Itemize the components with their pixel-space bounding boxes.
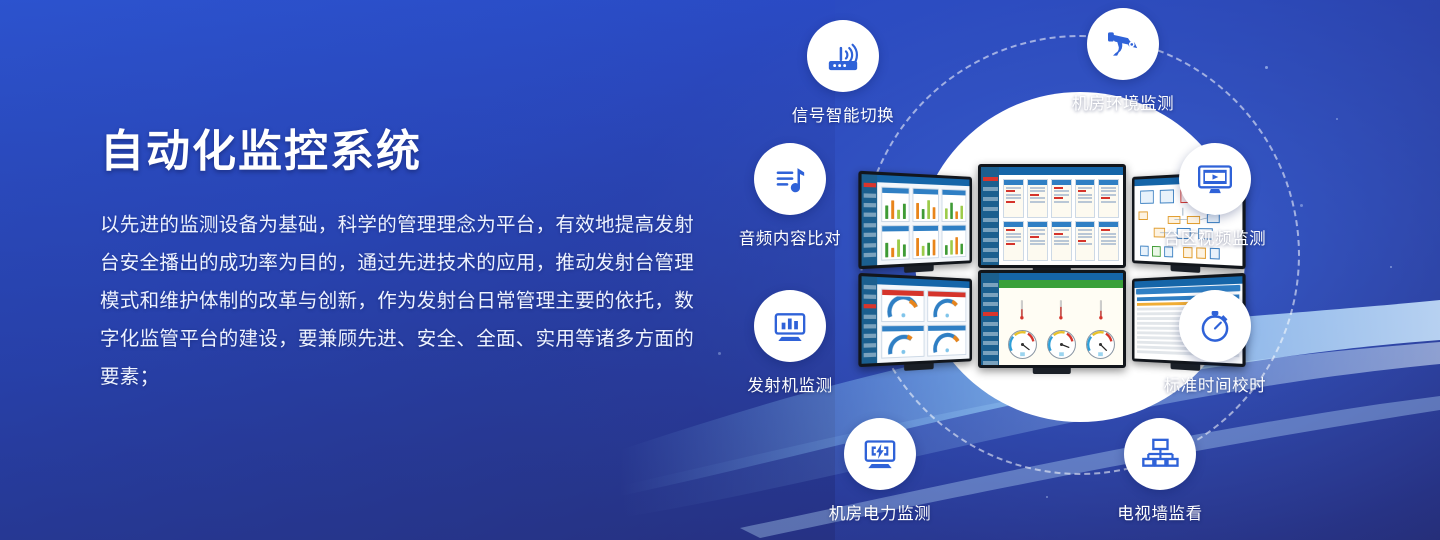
monitor-screen-dial-gauges [978,270,1126,368]
hero-description: 以先进的监测设备为基础，科学的管理理念为平台，有效地提高发射台安全播出的成功率为… [100,206,700,396]
feature-label: 信号智能切换 [768,102,918,126]
feature-label: 台区视频监测 [1140,225,1290,249]
hero-copy: 自动化监控系统 以先进的监测设备为基础，科学的管理理念为平台，有效地提高发射台安… [100,128,700,396]
feature-label: 标准时间校时 [1140,372,1290,396]
feature-item-signal-switch[interactable]: 信号智能切换 [768,20,918,126]
monitor-screen-arc-gauges [858,273,972,367]
hero-banner: 自动化监控系统 以先进的监测设备为基础，科学的管理理念为平台，有效地提高发射台安… [0,0,1440,540]
stopwatch-icon [1179,290,1251,362]
feature-label: 机房环境监测 [1048,90,1198,114]
monitor-power-icon [844,418,916,490]
feature-item-area-video[interactable]: 台区视频监测 [1140,143,1290,249]
feature-label: 音频内容比对 [715,225,865,249]
feature-label: 机房电力监测 [805,500,955,524]
feature-item-room-power[interactable]: 机房电力监测 [805,418,955,524]
monitor-video-icon [1179,143,1251,215]
sitemap-icon [1124,418,1196,490]
router-wifi-icon [807,20,879,92]
feature-label: 发射机监测 [715,372,865,396]
hero-graphic: 信号智能切换 机房环境监测 [700,0,1440,540]
music-note-icon [754,143,826,215]
feature-item-audio-compare[interactable]: 音频内容比对 [715,143,865,249]
monitor-screen-bar-charts [858,171,972,270]
feature-item-time-sync[interactable]: 标准时间校时 [1140,290,1290,396]
page-title: 自动化监控系统 [100,128,700,176]
monitor-chart-icon [754,290,826,362]
feature-item-room-env[interactable]: 机房环境监测 [1048,8,1198,114]
feature-label: 电视墙监看 [1085,500,1235,524]
feature-item-tv-wall[interactable]: 电视墙监看 [1085,418,1235,524]
security-camera-icon [1087,8,1159,80]
feature-item-transmitter[interactable]: 发射机监测 [715,290,865,396]
monitor-screen-data-cards [978,164,1126,268]
